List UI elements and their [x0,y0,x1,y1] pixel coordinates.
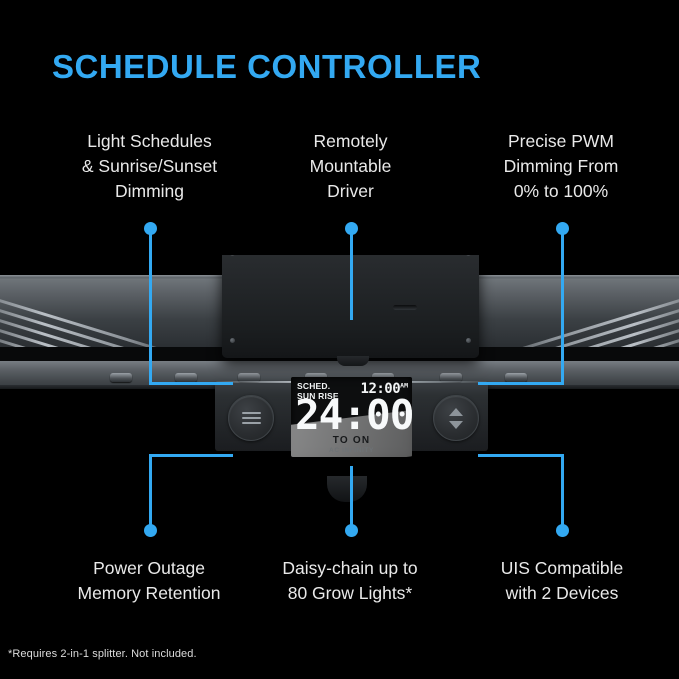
footnote: *Requires 2-in-1 splitter. Not included. [8,648,197,660]
callout-light-schedules: Light Schedules & Sunrise/Sunset Dimming [28,129,271,204]
callout-lead [561,234,564,384]
callout-lead [350,234,353,320]
callout-dot-power-outage [144,524,157,537]
callout-lead [149,382,233,385]
chevron-down-icon [449,421,463,429]
up-down-button[interactable] [433,395,479,441]
lcd-status: TO ON [291,435,412,446]
callout-lead [350,466,353,530]
callout-lead [149,234,152,384]
callout-lead [149,454,152,530]
lcd-display: SCHED. SUN RISE 12:00AM 24:00 TO ON AC I… [291,377,412,457]
callout-uis-compatible: UIS Compatible with 2 Devices [458,556,666,606]
callout-lead [478,454,564,457]
callout-remote-driver: Remotely Mountable Driver [252,129,449,204]
callout-power-outage: Power Outage Memory Retention [38,556,260,606]
driver-side-vent [393,305,417,310]
heatsink-fins-right [459,281,679,351]
chevron-up-icon [449,408,463,416]
lower-background [0,502,679,542]
lcd-brand: AC INFINITY [291,447,412,454]
mount-clip [505,373,527,382]
heatsink-fins-left [0,281,220,351]
mount-clip [110,373,132,382]
callout-lead [478,382,564,385]
callout-lead [561,454,564,530]
menu-button[interactable] [228,395,274,441]
callout-pwm-dimming: Precise PWM Dimming From 0% to 100% [455,129,667,204]
callout-dot-uis-compatible [556,524,569,537]
mount-clip [175,373,197,382]
lcd-clock-meridiem: AM [400,381,408,389]
page-title: SCHEDULE CONTROLLER [52,48,481,86]
callout-daisy-chain: Daisy-chain up to 80 Grow Lights* [250,556,450,606]
lcd-main-value: 24:00 [295,395,408,436]
callout-dot-daisy-chain [345,524,358,537]
callout-lead [149,454,233,457]
hamburger-icon [242,409,261,427]
product-feature-graphic: SCHEDULE CONTROLLER [0,0,679,679]
driver-mount-foot [337,356,369,366]
